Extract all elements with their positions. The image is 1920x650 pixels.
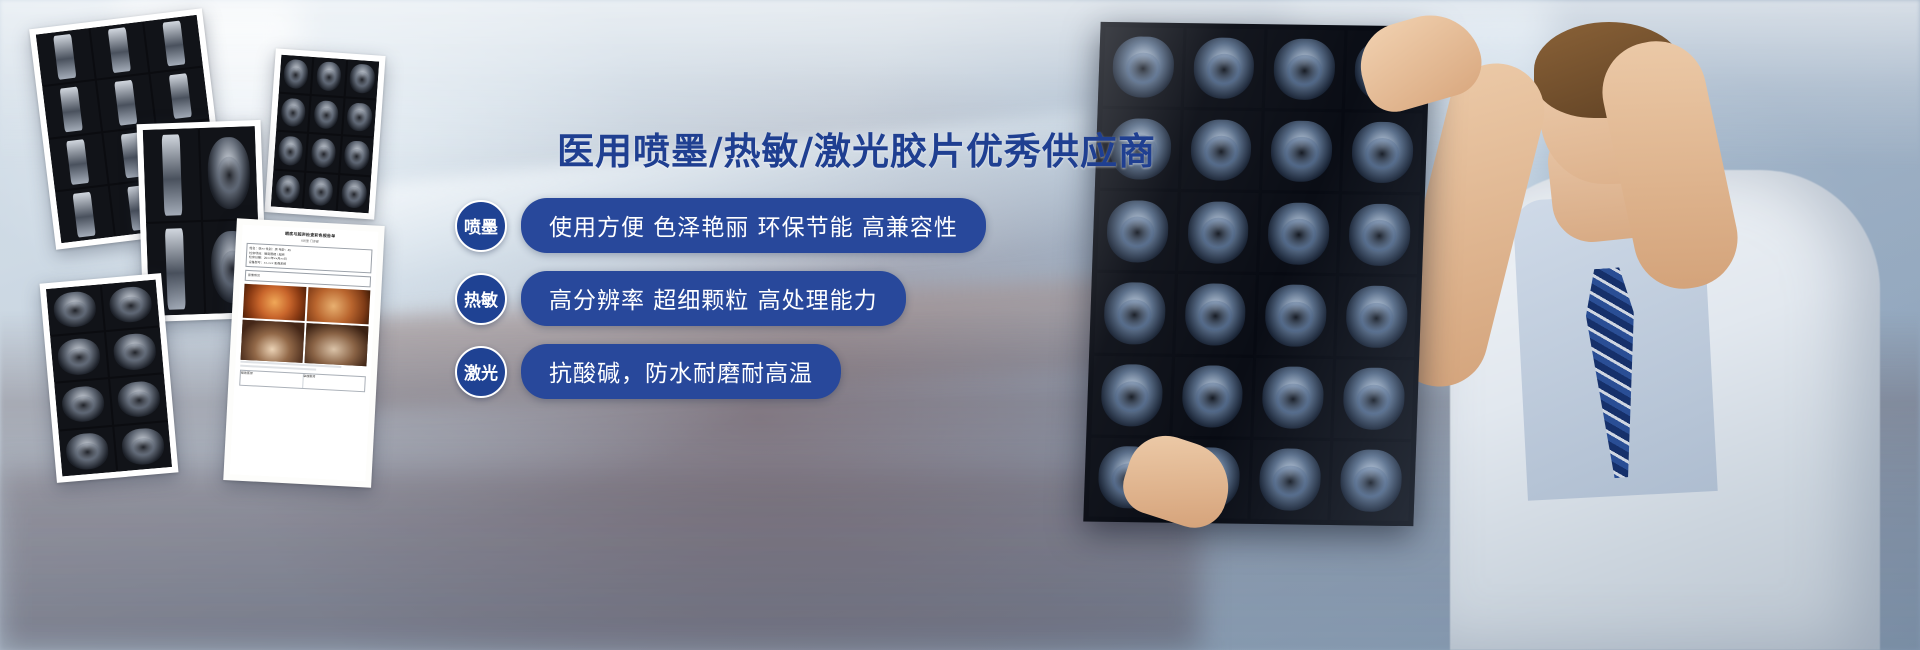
feature-pill-inkjet[interactable]: 使用方便 色泽艳丽 环保节能 高兼容性 [521, 198, 986, 253]
banner-copy: 医用喷墨/热敏/激光胶片优秀供应商 喷墨 使用方便 色泽艳丽 环保节能 高兼容性… [455, 130, 1095, 417]
page-title: 医用喷墨/热敏/激光胶片优秀供应商 [557, 130, 1095, 174]
badge-inkjet[interactable]: 喷墨 [455, 200, 507, 252]
fundus-photo [243, 283, 307, 320]
medical-film-stack: 眼底与超声检查彩色报告单 X光室 门诊部 姓名：张×× 性别：男 年龄：45 检… [0, 0, 440, 540]
feature-row-laser: 激光 抗酸碱，防水耐磨耐高温 [455, 344, 1095, 399]
ultrasound-image [241, 319, 305, 362]
film-sheet-color-report: 眼底与超声检查彩色报告单 X光室 门诊部 姓名：张×× 性别：男 年龄：45 检… [223, 218, 385, 487]
badge-laser[interactable]: 激光 [455, 346, 507, 398]
report-image-grid [241, 283, 371, 365]
film-sheet-brain-mri [40, 273, 179, 483]
badge-thermal[interactable]: 热敏 [455, 273, 507, 325]
fundus-photo [307, 287, 371, 324]
report-signature-row: 报告医师 审核医师 [239, 369, 366, 392]
film-sheet-brain-ct [264, 48, 385, 219]
feature-pill-thermal[interactable]: 高分辨率 超细颗粒 高处理能力 [521, 271, 906, 326]
hero-banner: 眼底与超声检查彩色报告单 X光室 门诊部 姓名：张×× 性别：男 年龄：45 检… [0, 0, 1920, 650]
feature-row-thermal: 热敏 高分辨率 超细颗粒 高处理能力 [455, 271, 1095, 326]
feature-row-inkjet: 喷墨 使用方便 色泽艳丽 环保节能 高兼容性 [455, 198, 1095, 253]
doctor-holding-mri-film [1100, 0, 1920, 650]
report-fields: 姓名：张×× 性别：男 年龄：45 检查项目：眼底照相 / 超声 检查日期：20… [245, 243, 372, 274]
feature-list: 喷墨 使用方便 色泽艳丽 环保节能 高兼容性 热敏 高分辨率 超细颗粒 高处理能… [455, 198, 1095, 399]
report-footer-left: 报告医师 [240, 370, 303, 387]
feature-pill-laser[interactable]: 抗酸碱，防水耐磨耐高温 [521, 344, 841, 399]
ultrasound-image [305, 323, 369, 366]
report-footer-right: 审核医师 [303, 373, 365, 390]
